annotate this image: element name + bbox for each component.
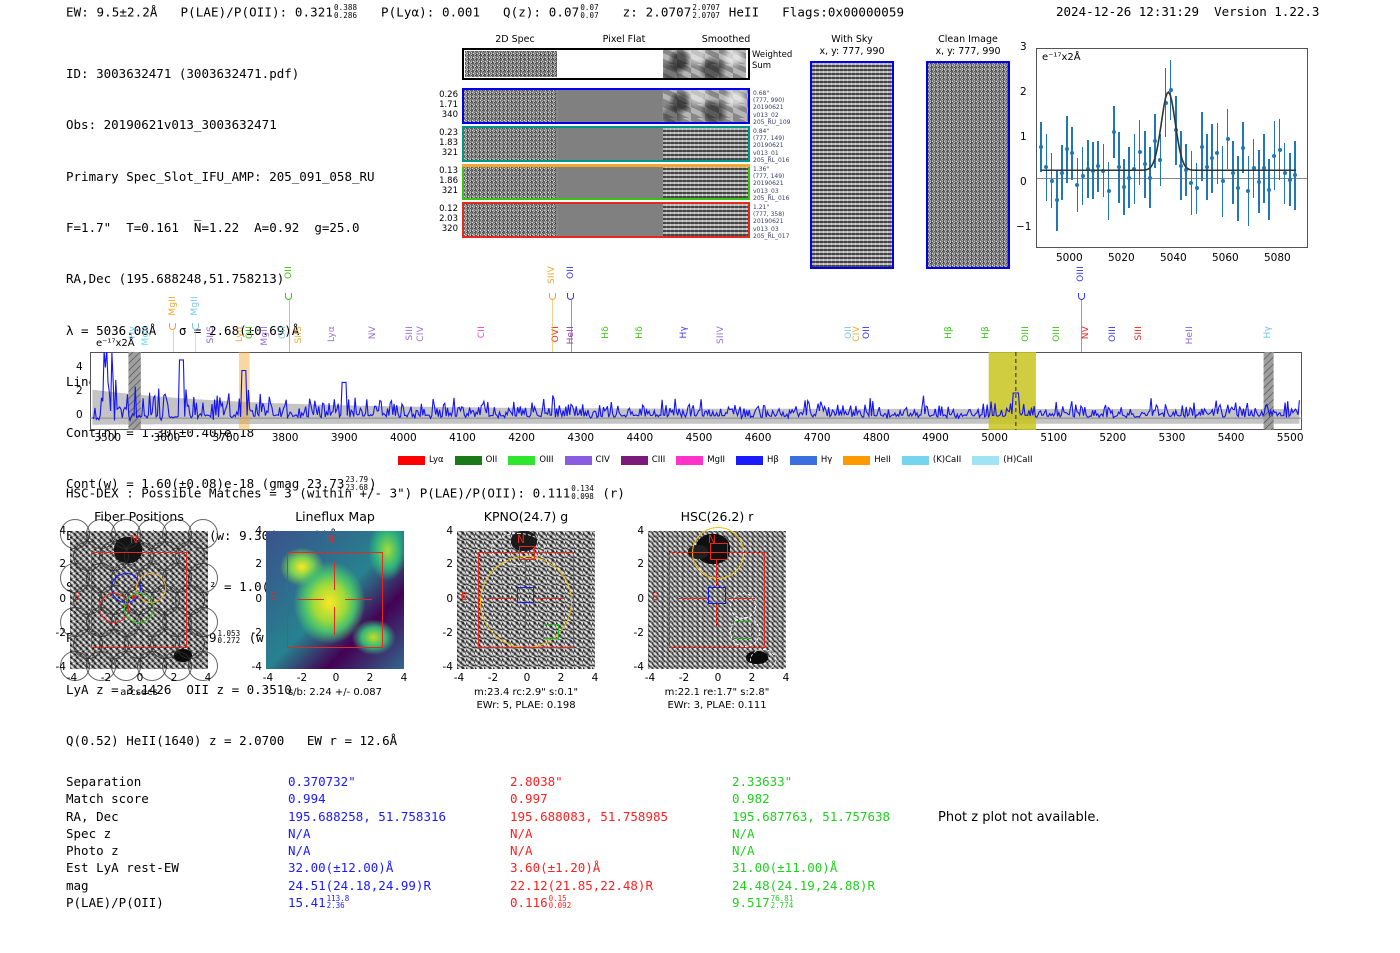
legend-item-CIII: CIII [621, 455, 665, 465]
emission-line-fit-plot: e⁻¹⁷x2Å 3 2 1 0 −1 5000 5020 5040 5060 5… [1036, 48, 1308, 248]
fiber-row-2-meta: 1.36" (777, 149) 20190621 v013_03 205_RL… [753, 166, 789, 202]
spectrum-xtick-3900: 3900 [328, 432, 360, 444]
table-label-0: Separation [66, 773, 179, 790]
line-bracket-17 [549, 293, 556, 300]
crosshair-h-right [345, 599, 372, 600]
spectrum-ytick-4: 4 [76, 361, 83, 373]
table-cell-c1-r5: 3.60(±1.20)Å [510, 859, 668, 876]
line-label-OIII-33: OIII [1108, 326, 1118, 342]
lineflux-compass-north: N [326, 534, 334, 546]
legend-label-4: CIII [652, 455, 665, 465]
emission-line-label-row: HyMgIISIISMgIIMgIILyαOIIMgIIOIIOIISIISLy… [90, 278, 1302, 352]
line-label-SIII-34: SIII [1134, 326, 1144, 340]
line-bracket-8 [285, 293, 292, 300]
table-column-red: 2.8038"0.997195.688083, 51.758985N/AN/A3… [510, 773, 668, 911]
table-label-6: mag [66, 877, 179, 894]
info-line-primary-slot: Primary Spec_Slot_IFU_AMP: 205_091_058_R… [66, 168, 397, 185]
line-label-SIIV-17: SIIV [547, 266, 557, 284]
line-stem-3 [173, 330, 174, 352]
fiber-xtick-m2: -2 [96, 672, 116, 684]
legend-label-2: OIII [539, 455, 553, 465]
spectrum-xtick-4100: 4100 [446, 432, 478, 444]
legend-swatch-9 [902, 456, 929, 465]
table-cell-c0-r3: N/A [288, 825, 446, 842]
table-cell-c2-r0: 2.33633" [732, 773, 890, 790]
kpno-xtick-4: 4 [585, 672, 605, 684]
legend-label-0: Lyα [429, 455, 444, 465]
table-label-2: RA, Dec [66, 808, 179, 825]
line-label-OIII-31: OIII [1076, 266, 1086, 282]
fiber-marker-green [124, 593, 154, 623]
table-cell-c0-r7: 15.41113.82.36 [288, 894, 446, 911]
qz-label: Q(z): [503, 4, 541, 19]
kpno-match-blue-box [517, 587, 534, 603]
spectrum-xtick-4500: 4500 [683, 432, 715, 444]
legend-item-HeII: HeII [843, 455, 891, 465]
line-label-Ly-5: Lyα [235, 326, 245, 342]
line-label-MgII-1: MgII [141, 326, 151, 346]
fiber-row-0-stats: 0.26 1.71 340 [432, 90, 458, 120]
legend-item-MgII: MgII [676, 455, 725, 465]
spectrum-xtick-5300: 5300 [1156, 432, 1188, 444]
line-label-Hy-0: Hy [128, 326, 138, 339]
header-timestamp-version: 2024-12-26 12:31:29 Version 1.22.3 [1056, 4, 1319, 19]
fiber-row-2-stats: 0.13 1.86 321 [432, 166, 458, 196]
line-label-MgII-7: MgII [260, 326, 270, 346]
legend-item-HCaII: (H)CaII [972, 455, 1032, 465]
fiber-row-3-stats: 0.12 2.03 320 [432, 204, 458, 234]
line-stem-4 [195, 330, 196, 352]
line-label-CIV-25: CIV [852, 326, 862, 342]
hsc-xtick-0: 0 [708, 672, 728, 684]
legend-label-8: HeII [874, 455, 891, 465]
kpno-xtick-m2: -2 [483, 672, 503, 684]
line-label-OIII-30: OIII [1052, 326, 1062, 342]
spectrum-xtick-row: 3500360037003800390040004100420043004400… [90, 432, 1302, 448]
fitplot-model-curve [1036, 48, 1308, 248]
crosshair-v-top [334, 562, 335, 590]
legend-label-1: OII [486, 455, 498, 465]
line-label-HeII-19: HeII [566, 326, 576, 344]
legend-label-6: Hβ [767, 455, 779, 465]
table-cell-c1-r2: 195.688083, 51.758985 [510, 808, 668, 825]
hsc-xtick-m2: -2 [674, 672, 694, 684]
table-label-1: Match score [66, 790, 179, 807]
fiber-ytick-4: 4 [48, 525, 66, 537]
hscdex-text-1: HSC-DEX : Possible Matches = 3 (within +… [66, 485, 570, 500]
line-label-OII-6: OII [245, 326, 255, 339]
table-cell-c1-r3: N/A [510, 825, 668, 842]
hsc-match-blue-box [708, 587, 726, 604]
line-label-MgII-3: MgII [168, 296, 178, 316]
hsc-r-panel: HSC(26.2) r N E 4 2 0 -2 -4 -4 -2 0 2 4 … [648, 531, 786, 669]
spectrum-xtick-5100: 5100 [1038, 432, 1070, 444]
line-label-OII-8: OII [284, 266, 294, 279]
lineflux-xtick-4: 4 [394, 672, 414, 684]
legend-swatch-5 [676, 456, 703, 465]
legend-item-H: Hβ [736, 455, 779, 465]
table-cell-c2-r3: N/A [732, 825, 890, 842]
photoz-plot-note: Phot z plot not available. [938, 810, 1100, 825]
info-line-obs: Obs: 20190621v013_3003632471 [66, 116, 397, 133]
line-label-H-21: Hδ [635, 326, 645, 339]
weighted-sum-label: Weighted Sum [752, 50, 792, 71]
lineflux-map-title: Lineflux Map [266, 509, 404, 524]
table-cell-c2-r1: 0.982 [732, 790, 890, 807]
fitplot-xtick-5000: 5000 [1056, 252, 1083, 264]
spectrum-xtick-5000: 5000 [979, 432, 1011, 444]
hsc-compass-east: E [652, 591, 659, 603]
table-label-4: Photo z [66, 842, 179, 859]
qz-value: 0.07 [549, 4, 580, 19]
line-label-HeII-35: HeII [1185, 326, 1195, 344]
table-cell-c0-r2: 195.688258, 51.758316 [288, 808, 446, 825]
hsc-ytick-m2: -2 [623, 627, 644, 639]
legend-swatch-10 [972, 456, 999, 465]
legend-swatch-0 [398, 456, 425, 465]
legend-item-OIII: OIII [508, 455, 553, 465]
spectrum-xtick-5400: 5400 [1215, 432, 1247, 444]
line-bracket-18 [567, 293, 574, 300]
table-cell-c2-r2: 195.687763, 51.757638 [732, 808, 890, 825]
table-cell-c0-r6: 24.51(24.18,24.99)R [288, 877, 446, 894]
fiber-xtick-2: 2 [164, 672, 184, 684]
ew-value: 9.5±2.2Å [97, 4, 158, 19]
lineflux-ytick-4: 4 [244, 525, 262, 537]
lineflux-ytick-m2: -2 [241, 627, 262, 639]
legend-label-7: Hγ [821, 455, 832, 465]
table-cell-c1-r1: 0.997 [510, 790, 668, 807]
legend-item-CIV: CIV [565, 455, 610, 465]
with-sky-title: With Sky [808, 34, 896, 45]
spectrum-xtick-3500: 3500 [92, 432, 124, 444]
plae-value: 0.321 [295, 4, 333, 19]
info-line-seeing: F=1.7" T=0.161 N̅=1.22 A=0.92 g=25.0 [66, 219, 397, 236]
table-cell-c0-r1: 0.994 [288, 790, 446, 807]
hscdex-match-summary: HSC-DEX : Possible Matches = 3 (within +… [66, 485, 625, 500]
line-label-CII-15: CII [477, 326, 487, 338]
line-label-CIV-14: CIV [416, 326, 426, 342]
hsc-dashed-circle-3 [750, 649, 776, 671]
legend-item-Ly: Lyα [398, 455, 444, 465]
kpno-ytick-0: 0 [435, 593, 453, 605]
fitplot-xtick-5060: 5060 [1212, 252, 1239, 264]
z-value: 2.0707 [646, 4, 692, 19]
fiber-xtick-4: 4 [198, 672, 218, 684]
spectrum-legend: LyαOIIOIIICIVCIIIMgIIHβHγHeII(K)CaII(H)C… [398, 455, 1043, 465]
line-label-H-22: Hγ [679, 326, 689, 339]
hsc-ytick-2: 2 [626, 558, 644, 570]
kpno-compass-east: E [461, 591, 468, 603]
fiber-xtick-0: 0 [130, 672, 150, 684]
legend-swatch-8 [843, 456, 870, 465]
spectrum-xtick-4400: 4400 [624, 432, 656, 444]
fitplot-xtick-5040: 5040 [1160, 252, 1187, 264]
hscdex-text-2: (r) [595, 485, 625, 500]
table-cell-c0-r5: 32.00(±12.00)Å [288, 859, 446, 876]
flags-value: Flags:0x00000059 [782, 4, 904, 19]
spectrum-xtick-4900: 4900 [919, 432, 951, 444]
legend-swatch-6 [736, 456, 763, 465]
line-label-H-36: Hγ [1263, 326, 1273, 339]
table-plae-range-c2: 76.812.774 [771, 895, 794, 910]
legend-label-3: CIV [596, 455, 610, 465]
lineflux-ytick-0: 0 [244, 593, 262, 605]
fiber-row-0-meta: 0.68" (777, 990) 20190621 v013_02 205_RU… [753, 90, 790, 126]
fitplot-ytick-3: 3 [1020, 41, 1027, 53]
fitplot-ytick-0: 0 [1020, 176, 1027, 188]
lineflux-map-caption: s/b: 2.24 +/- 0.087 [225, 686, 446, 699]
kpno-ytick-2: 2 [435, 558, 453, 570]
line-bracket-4 [192, 323, 199, 330]
line-id: HeII [729, 4, 760, 19]
spectrum-ytick-2: 2 [76, 385, 83, 397]
spectrum-xtick-3700: 3700 [210, 432, 242, 444]
fitplot-xtick-5020: 5020 [1108, 252, 1135, 264]
header-summary-line: EW: 9.5±2.2Å P(LAE)/P(OII): 0.3210.3880.… [66, 4, 904, 19]
fiber-ytick-0: 0 [48, 593, 66, 605]
lineflux-map-panel: Lineflux Map N E 4 2 0 -2 -4 -4 -2 0 2 4… [266, 531, 404, 669]
crosshair-h-left [297, 599, 324, 600]
fiber-xtick-m4: -4 [62, 672, 82, 684]
table-row-labels: SeparationMatch scoreRA, DecSpec zPhoto … [66, 773, 179, 911]
clean-image-title: Clean Image [924, 34, 1012, 45]
line-label-OII-26: OII [862, 326, 872, 339]
lineflux-ytick-2: 2 [244, 558, 262, 570]
table-label-7: P(LAE)/P(OII) [66, 894, 179, 911]
table-column-green: 2.33633"0.982195.687763, 51.757638N/AN/A… [732, 773, 890, 911]
fiber-ytick-2: 2 [48, 558, 66, 570]
fiber-row-3-meta: 1.21" (777, 358) 20190621 v013_03 205_RL… [753, 204, 789, 240]
clean-image-coords: x, y: 777, 990 [924, 46, 1012, 57]
lineflux-xtick-0: 0 [326, 672, 346, 684]
line-label-SIIV-23: SIIV [716, 326, 726, 344]
fiber-positions-caption: arcsecs [29, 686, 250, 699]
table-cell-c0-r0: 0.370732" [288, 773, 446, 790]
hsc-caption-1: m:22.1 re:1.7" s:2.8" [607, 686, 828, 699]
line-label-NV-32: NV [1081, 326, 1091, 339]
fiber-ytick-m2: -2 [45, 627, 66, 639]
spectrum-xtick-4200: 4200 [506, 432, 538, 444]
legend-swatch-3 [565, 456, 592, 465]
hsc-compass-north: N [708, 534, 716, 546]
column-title-2dspec: 2D Spec [455, 34, 575, 45]
line-label-H-20: Hδ [601, 326, 611, 339]
legend-swatch-1 [455, 456, 482, 465]
fiber-row-2-top-accent [462, 164, 750, 167]
fitplot-ytick-m1: −1 [1016, 221, 1031, 233]
line-label-OIII-29: OIII [1021, 326, 1031, 342]
detection-report-page: EW: 9.5±2.2Å P(LAE)/P(OII): 0.3210.3880.… [0, 0, 1400, 953]
spectrum-units-label: e⁻¹⁷x2Å [96, 338, 135, 349]
kpno-xtick-m4: -4 [449, 672, 469, 684]
kpno-g-title: KPNO(24.7) g [457, 509, 595, 524]
legend-label-9: (K)CaII [933, 455, 961, 465]
line-stem-8 [289, 300, 290, 352]
spectrum-xtick-3800: 3800 [269, 432, 301, 444]
lineflux-compass-east: E [270, 591, 277, 603]
table-plae-range-c1: 0.150.092 [549, 895, 572, 910]
weighted-sum-row [462, 48, 750, 80]
fitplot-xtick-5080: 5080 [1264, 252, 1291, 264]
line-label-OII-18: OII [566, 266, 576, 279]
crosshair-v-bot [334, 607, 335, 635]
kpno-xtick-0: 0 [517, 672, 537, 684]
hsc-caption-2: EWr: 3, PLAE: 0.111 [607, 699, 828, 712]
legend-label-5: MgII [707, 455, 725, 465]
line-label-H-27: Hβ [944, 326, 954, 339]
target-marker [132, 595, 136, 599]
line-label-SIII-13: SIII [405, 326, 415, 340]
hsc-ytick-0: 0 [626, 593, 644, 605]
info-plae-range: 1.0530.272 [218, 630, 241, 645]
kpno-match-red-box [519, 546, 535, 560]
qz-range: 0.070.07 [580, 4, 598, 19]
legend-label-10: (H)CaII [1003, 455, 1032, 465]
line-label-MgII-4: MgII [190, 296, 200, 316]
plya-label: P(Lyα): [381, 4, 434, 19]
line-label-SIIS-10: SIIS [294, 326, 304, 344]
fitplot-ytick-2: 2 [1020, 86, 1027, 98]
kpno-match-green-box [543, 624, 559, 639]
z-range: 2.07072.0707 [692, 4, 720, 19]
spectrum-xtick-4000: 4000 [387, 432, 419, 444]
spectrum-trace [90, 352, 1302, 430]
lineflux-xtick-m4: -4 [258, 672, 278, 684]
timestamp: 2024-12-26 12:31:29 [1056, 4, 1199, 19]
table-cell-c2-r7: 9.51776.812.774 [732, 894, 890, 911]
version: Version 1.22.3 [1214, 4, 1319, 19]
compass-east: E [74, 591, 81, 603]
plae-label: P(LAE)/P(OII): [180, 4, 287, 19]
kpno-ytick-4: 4 [435, 525, 453, 537]
table-cell-c0-r4: N/A [288, 842, 446, 859]
legend-item-H: Hγ [790, 455, 832, 465]
table-cell-c2-r5: 31.00(±11.00)Å [732, 859, 890, 876]
info-line-classification: Q(0.52) HeII(1640) z = 2.0700 EW r = 12.… [66, 732, 397, 749]
hsc-xtick-2: 2 [742, 672, 762, 684]
fitplot-ytick-1: 1 [1020, 131, 1027, 143]
kpno-caption-1: m:23.4 rc:2.9" s:0.1" [416, 686, 637, 699]
fiber-positions-panel: Fiber Positions N E 4 2 0 -2 -4 -4 -2 0 … [70, 531, 208, 669]
table-cell-c1-r7: 0.1160.150.092 [510, 894, 668, 911]
line-bracket-3 [169, 323, 176, 330]
plae-range: 0.3880.286 [334, 4, 357, 19]
spectrum-xtick-4800: 4800 [860, 432, 892, 444]
spectrum-xtick-5200: 5200 [1097, 432, 1129, 444]
line-label-H-28: Hβ [981, 326, 991, 339]
kpno-xtick-2: 2 [551, 672, 571, 684]
line-label-Ly-11: Lyα [327, 326, 337, 342]
table-plae-range-c0: 113.82.36 [327, 895, 350, 910]
line-stem-17 [552, 300, 553, 352]
table-column-blue: 0.370732"0.994195.688258, 51.758316N/AN/… [288, 773, 446, 911]
hsc-xtick-m4: -4 [640, 672, 660, 684]
spectrum-ytick-0: 0 [76, 409, 83, 421]
spectrum-xtick-3600: 3600 [151, 432, 183, 444]
compass-north: N [130, 534, 138, 546]
lineflux-xtick-2: 2 [360, 672, 380, 684]
kpno-g-panel: KPNO(24.7) g N E 4 2 0 -2 -4 -4 -2 0 2 4… [457, 531, 595, 669]
table-label-5: Est LyA rest-EW [66, 859, 179, 876]
legend-item-KCaII: (K)CaII [902, 455, 961, 465]
kpno-compass-north: N [517, 534, 525, 546]
hscdex-plae-range: 0.1340.098 [571, 485, 594, 500]
kpno-caption-2: EWr: 5, PLAE: 0.198 [416, 699, 637, 712]
hsc-match-green-box [733, 621, 752, 639]
line-label-OII-9: OII [278, 326, 288, 339]
spectrum-xtick-4300: 4300 [565, 432, 597, 444]
table-cell-c1-r4: N/A [510, 842, 668, 859]
table-cell-c2-r4: N/A [732, 842, 890, 859]
plya-value: 0.001 [442, 4, 480, 19]
hsc-xtick-4: 4 [776, 672, 796, 684]
spectrum-xtick-4600: 4600 [742, 432, 774, 444]
with-sky-coords: x, y: 777, 990 [808, 46, 896, 57]
info-line-id: ID: 3003632471 (3003632471.pdf) [66, 65, 397, 82]
spectrum-xtick-4700: 4700 [801, 432, 833, 444]
spectrum-xtick-5500: 5500 [1274, 432, 1306, 444]
legend-swatch-4 [621, 456, 648, 465]
line-label-NV-12: NV [368, 326, 378, 339]
ew-label: EW: [66, 4, 89, 19]
table-cell-c2-r6: 24.48(24.19,24.88)R [732, 877, 890, 894]
fiber-row-1-stats: 0.23 1.83 321 [432, 128, 458, 158]
lineflux-xtick-m2: -2 [292, 672, 312, 684]
hsc-ytick-4: 4 [626, 525, 644, 537]
table-label-3: Spec z [66, 825, 179, 842]
kpno-ytick-m2: -2 [432, 627, 453, 639]
legend-swatch-2 [508, 456, 535, 465]
legend-swatch-7 [790, 456, 817, 465]
full-spectrum-plot: e⁻¹⁷x2Å 0 2 4 35003600370038003900400041… [90, 352, 1302, 430]
hsc-r-title: HSC(26.2) r [648, 509, 786, 524]
line-label-SIIS-2: SIIS [206, 326, 216, 344]
table-cell-c1-r0: 2.8038" [510, 773, 668, 790]
legend-item-OII: OII [455, 455, 498, 465]
table-cell-c1-r6: 22.12(21.85,22.48)R [510, 877, 668, 894]
column-title-smoothed: Smoothed [666, 34, 786, 45]
line-bracket-31 [1078, 293, 1085, 300]
z-label: z: [623, 4, 638, 19]
fiber-row-1-meta: 0.84" (777, 149) 20190621 v013_01 205_RL… [753, 128, 789, 164]
